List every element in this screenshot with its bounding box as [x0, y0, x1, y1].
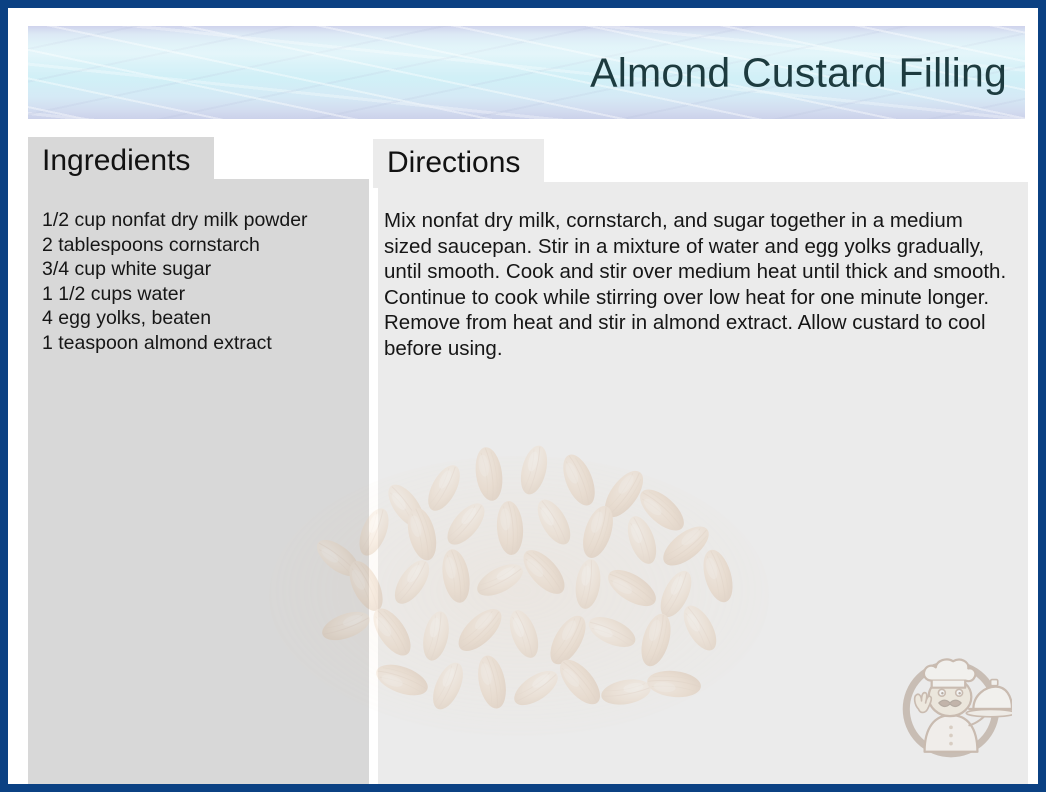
- list-item: 4 egg yolks, beaten: [42, 306, 355, 331]
- list-item: 1/2 cup nonfat dry milk powder: [42, 208, 355, 233]
- recipe-slide: Almond Custard Filling Ingredients 1/2 c…: [0, 0, 1046, 792]
- panel-divider: [369, 179, 378, 791]
- directions-text: Mix nonfat dry milk, cornstarch, and sug…: [384, 208, 1012, 361]
- list-item: 2 tablespoons cornstarch: [42, 233, 355, 258]
- page-title: Almond Custard Filling: [590, 51, 1007, 94]
- ingredients-panel: 1/2 cup nonfat dry milk powder 2 tablesp…: [28, 179, 369, 791]
- slide-inner: Almond Custard Filling Ingredients 1/2 c…: [16, 16, 1030, 776]
- ingredient-list: 1/2 cup nonfat dry milk powder 2 tablesp…: [42, 208, 355, 355]
- list-item: 1 1/2 cups water: [42, 282, 355, 307]
- slide-header-banner: Almond Custard Filling: [28, 26, 1025, 119]
- tab-directions[interactable]: Directions: [373, 139, 544, 188]
- list-item: 1 teaspoon almond extract: [42, 331, 355, 356]
- list-item: 3/4 cup white sugar: [42, 257, 355, 282]
- directions-panel: Mix nonfat dry milk, cornstarch, and sug…: [378, 182, 1028, 791]
